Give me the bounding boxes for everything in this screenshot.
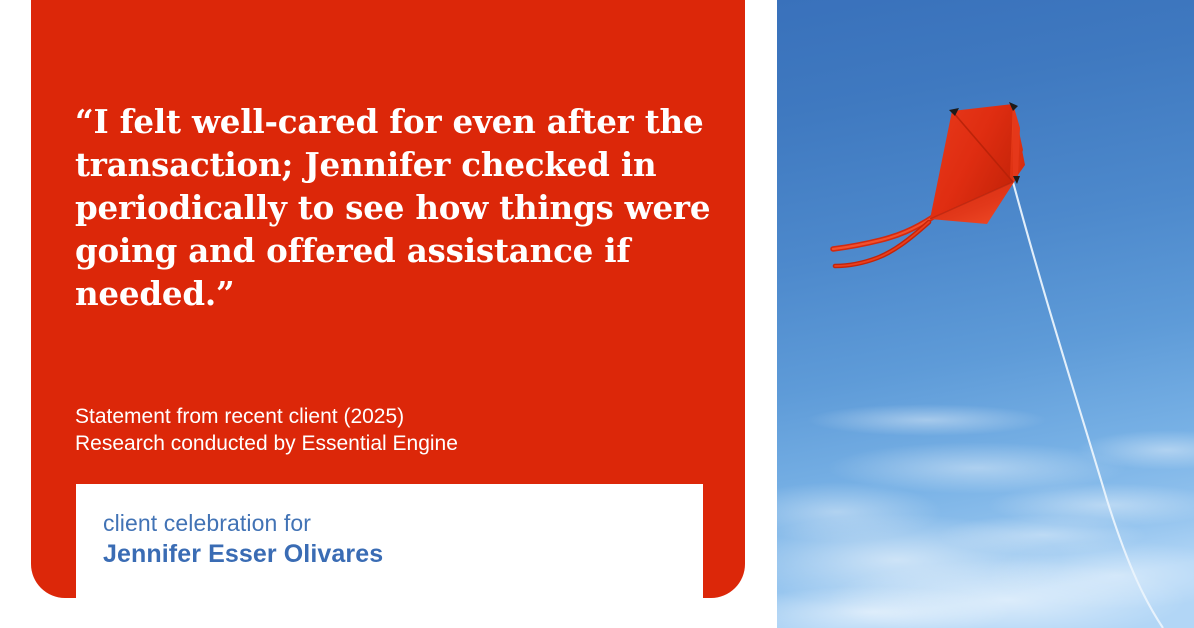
kite-photo — [777, 0, 1194, 628]
attribution-line-1: Statement from recent client (2025) — [75, 403, 715, 430]
attribution-block: Statement from recent client (2025) Rese… — [75, 403, 715, 457]
agent-name-card-content: client celebration for Jennifer Esser Ol… — [103, 508, 383, 570]
testimonial-card: “I felt well-cared for even after the tr… — [0, 0, 1194, 628]
attribution-line-2: Research conducted by Essential Engine — [75, 430, 715, 457]
agent-name: Jennifer Esser Olivares — [103, 538, 383, 570]
agent-name-card: client celebration for Jennifer Esser Ol… — [76, 484, 703, 628]
kite-photo-illustration — [777, 0, 1194, 628]
testimonial-quote: “I felt well-cared for even after the tr… — [75, 100, 723, 315]
card-eyebrow-label: client celebration for — [103, 508, 383, 538]
